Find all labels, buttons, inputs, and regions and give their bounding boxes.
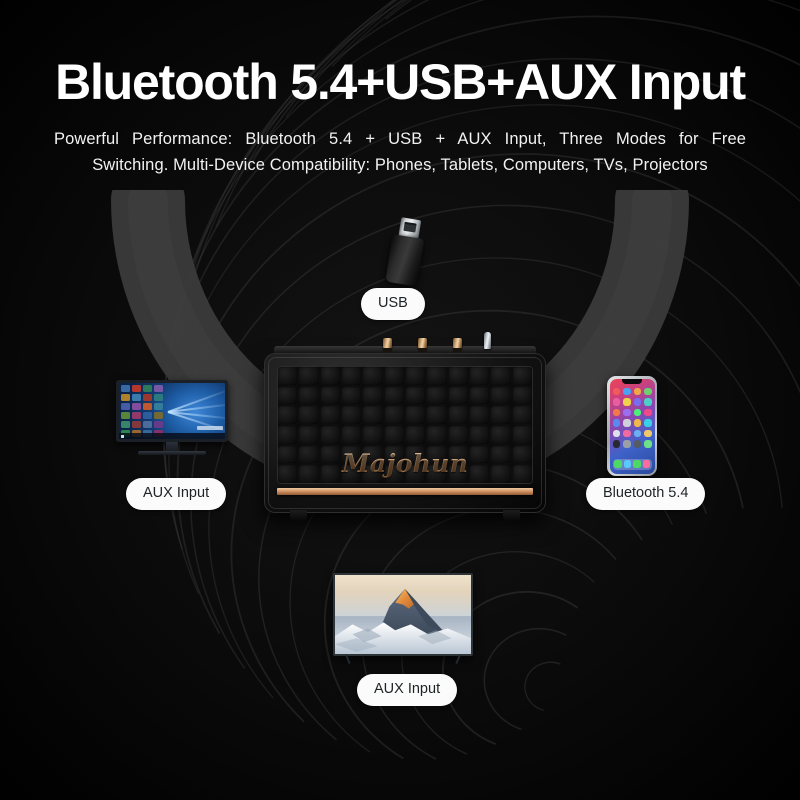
grille-cell [491, 387, 510, 405]
grille-cell [513, 387, 532, 405]
phone-app-grid [613, 388, 652, 448]
grille-cell [513, 426, 532, 444]
desktop-icon [132, 421, 141, 428]
knob-stem [383, 348, 392, 352]
grille-cell [513, 367, 532, 385]
callout-aux-input-tv[interactable]: AUX Input [357, 674, 457, 706]
bluetooth-speaker: Majohun [250, 335, 560, 535]
desktop-icon [154, 421, 163, 428]
phone-app-icon [644, 398, 652, 406]
grille-cell [363, 367, 382, 385]
phone-app-icon [634, 440, 642, 448]
desktop-icon [143, 421, 152, 428]
grille-cell [299, 406, 318, 424]
phone-app-icon [634, 430, 642, 438]
knob-cap [418, 338, 427, 348]
desktop-icon [143, 403, 152, 410]
phone-frame [607, 376, 657, 476]
grille-cell [491, 426, 510, 444]
brand-logo: Majohun [264, 449, 546, 478]
phone-app-icon [613, 398, 621, 406]
grille-cell [321, 406, 340, 424]
control-knob-3[interactable] [453, 338, 462, 352]
phone-app-icon [613, 409, 621, 417]
taskbar-tray [197, 426, 223, 430]
phone-app-icon [623, 409, 631, 417]
grille-cell [491, 367, 510, 385]
callout-aux-input-pc[interactable]: AUX Input [126, 478, 226, 510]
grille-cell [385, 406, 404, 424]
phone-dock-icon [643, 460, 651, 468]
phone-notch [622, 379, 642, 384]
phone-app-icon [634, 419, 642, 427]
phone-app-icon [634, 398, 642, 406]
television-icon [333, 573, 473, 665]
grille-cell [321, 426, 340, 444]
knob-stem [453, 348, 462, 352]
grille-cell [342, 367, 361, 385]
smartphone-icon [607, 376, 657, 476]
phone-app-icon [634, 388, 642, 396]
phone-app-icon [623, 398, 631, 406]
grille-cell [449, 387, 468, 405]
grille-cell [427, 426, 446, 444]
usb-body [385, 234, 424, 286]
grille-cell [470, 367, 489, 385]
subtitle-line-1: Powerful Performance: Bluetooth 5.4 + US… [50, 126, 750, 153]
grille-cell [427, 387, 446, 405]
desktop-icon [154, 385, 163, 392]
grille-cell [449, 367, 468, 385]
grille-cell [427, 367, 446, 385]
page-subtitle: Powerful Performance: Bluetooth 5.4 + US… [50, 126, 750, 179]
grille-cell [363, 426, 382, 444]
grille-cell [278, 387, 297, 405]
callout-usb[interactable]: USB [361, 288, 425, 320]
control-knob-2[interactable] [418, 338, 427, 352]
grille-cell [449, 406, 468, 424]
speaker-cabinet: Majohun [264, 353, 546, 513]
tv-foot-left [345, 655, 350, 664]
desktop-icon [143, 394, 152, 401]
grille-cell [278, 426, 297, 444]
grille-cell [406, 406, 425, 424]
phone-dock-icon [614, 460, 622, 468]
antenna-toggle-switch[interactable] [484, 332, 491, 349]
phone-app-icon [644, 430, 652, 438]
page-title: Bluetooth 5.4+USB+AUX Input [0, 56, 800, 109]
callout-bluetooth[interactable]: Bluetooth 5.4 [586, 478, 705, 510]
antenna-rod [484, 332, 491, 349]
desktop-icon [143, 412, 152, 419]
knob-cap [383, 338, 392, 348]
grille-cell [363, 387, 382, 405]
monitor-screen [119, 383, 225, 439]
grille-cell [470, 426, 489, 444]
desktop-icon [121, 403, 130, 410]
windows-desktop-monitor-icon [116, 380, 228, 458]
grille-cell [470, 387, 489, 405]
knob-stem [418, 348, 427, 352]
desktop-icon [121, 394, 130, 401]
phone-app-icon [644, 440, 652, 448]
monitor-bezel [116, 380, 228, 442]
grille-cell [278, 367, 297, 385]
subtitle-line-2: Switching. Multi-Device Compatibility: P… [50, 152, 750, 179]
grille-cell [385, 387, 404, 405]
grille-cell [321, 387, 340, 405]
desktop-icon [121, 385, 130, 392]
control-knob-1[interactable] [383, 338, 392, 352]
desktop-icon [132, 385, 141, 392]
desktop-icon [143, 385, 152, 392]
grille-cell [491, 406, 510, 424]
phone-app-icon [613, 388, 621, 396]
grille-cell [299, 387, 318, 405]
phone-app-icon [613, 419, 621, 427]
product-marketing-image: Bluetooth 5.4+USB+AUX Input Powerful Per… [0, 0, 800, 800]
grille-cell [278, 406, 297, 424]
desktop-icon [132, 394, 141, 401]
desktop-icon [121, 412, 130, 419]
grille-cell [513, 406, 532, 424]
copper-accent-strip [277, 488, 533, 495]
phone-app-icon [623, 430, 631, 438]
grille-cell [385, 426, 404, 444]
phone-app-icon [623, 440, 631, 448]
desktop-icon [121, 421, 130, 428]
grille-cell [321, 367, 340, 385]
phone-app-icon [623, 388, 631, 396]
desktop-icon [132, 403, 141, 410]
desktop-icons [121, 385, 163, 439]
grille-cell [470, 406, 489, 424]
monitor-base [138, 451, 206, 455]
desktop-icon [132, 412, 141, 419]
desktop-icon [154, 403, 163, 410]
phone-app-icon [613, 440, 621, 448]
grille-cell [342, 406, 361, 424]
grille-cell [427, 406, 446, 424]
grille-cell [406, 426, 425, 444]
grille-cell [342, 387, 361, 405]
grille-cell [342, 426, 361, 444]
grille-cell [449, 426, 468, 444]
speaker-foot-right [503, 510, 520, 521]
knob-cap [453, 338, 462, 348]
tv-screen [335, 575, 471, 654]
tv-bezel [333, 573, 473, 656]
phone-screen [610, 379, 655, 474]
phone-app-icon [613, 430, 621, 438]
grille-cell [363, 406, 382, 424]
desktop-icon [154, 412, 163, 419]
grille-cell [299, 367, 318, 385]
grille-cell [299, 426, 318, 444]
phone-dock-icon [624, 460, 632, 468]
tv-foot-right [455, 655, 460, 664]
grille-cell [406, 367, 425, 385]
grille-cell [385, 367, 404, 385]
windows-taskbar [119, 433, 225, 439]
phone-dock [613, 459, 652, 470]
phone-dock-icon [633, 460, 641, 468]
desktop-icon [154, 394, 163, 401]
phone-app-icon [644, 409, 652, 417]
header-block: Bluetooth 5.4+USB+AUX Input Powerful Per… [0, 56, 800, 179]
phone-app-icon [644, 419, 652, 427]
phone-app-icon [644, 388, 652, 396]
speaker-foot-left [290, 510, 307, 521]
phone-app-icon [623, 419, 631, 427]
phone-app-icon [634, 409, 642, 417]
grille-cell [406, 387, 425, 405]
start-button-icon [121, 435, 124, 438]
